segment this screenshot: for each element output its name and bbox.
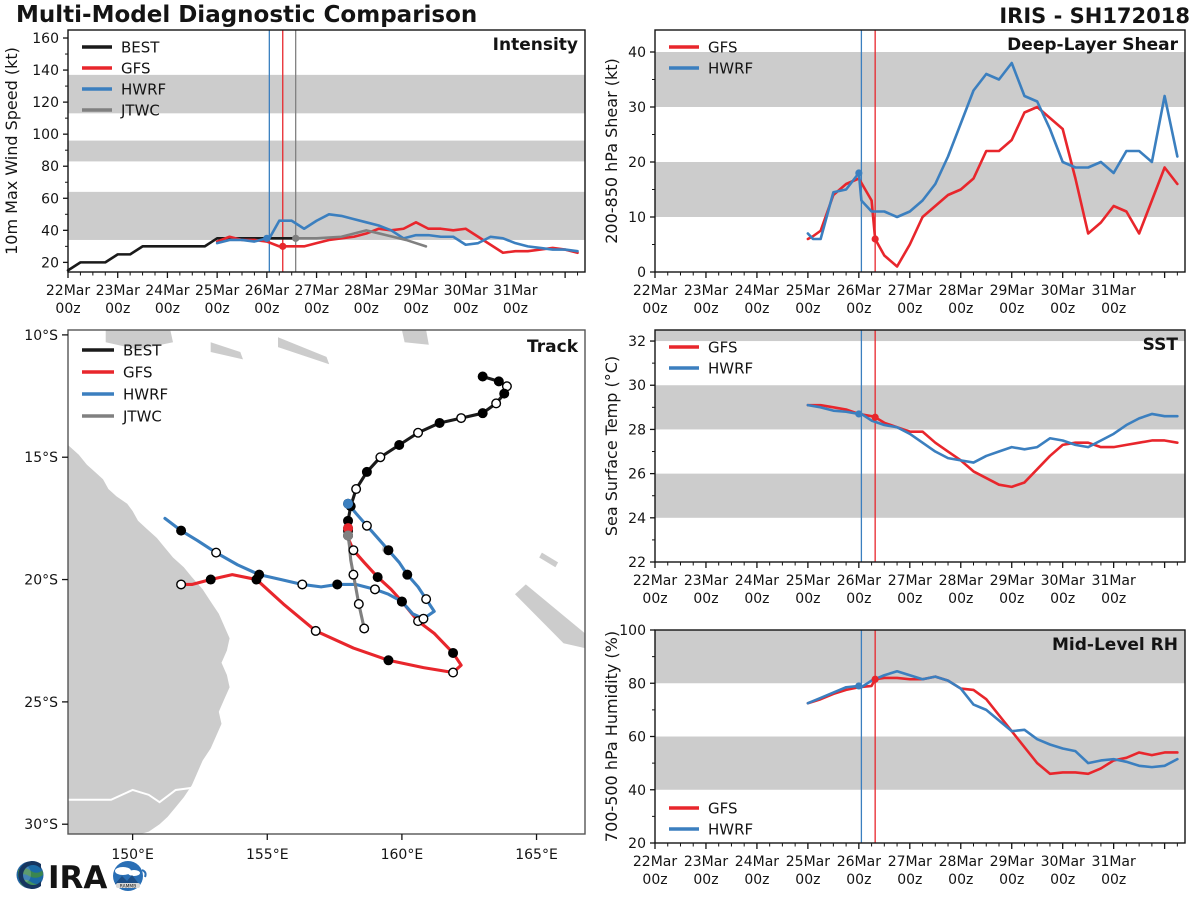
y-axis-label: 10m Max Wind Speed (kt) (2, 47, 21, 255)
track-point-hwrf (298, 580, 307, 589)
legend-label-best: BEST (121, 39, 160, 57)
x-tick-sublabel: 00z (846, 872, 871, 888)
x-tick-label: 25Mar (195, 283, 239, 299)
band (655, 162, 1185, 217)
legend-label-hwrf: HWRF (708, 821, 753, 839)
init-point-hwrf (855, 682, 862, 689)
panel-title: Mid-Level RH (1052, 635, 1178, 655)
map-y-tick-label: 30°S (24, 817, 58, 833)
x-tick-label: 23Mar (96, 283, 140, 299)
x-tick-sublabel: 00z (693, 872, 718, 888)
map-x-tick-label: 160°E (381, 847, 424, 863)
y-tick-label: 40 (628, 783, 646, 799)
x-tick-label: 29Mar (990, 283, 1034, 299)
track-point-hwrf (403, 570, 412, 579)
y-tick-label: 60 (41, 191, 59, 207)
track-point-hwrf (384, 546, 393, 555)
track-point-hwrf (177, 526, 186, 535)
y-tick-label: 80 (41, 159, 59, 175)
map-x-tick-label: 155°E (246, 847, 289, 863)
panel-title: SST (1143, 335, 1179, 355)
track-init-point-hwrf (343, 499, 353, 509)
x-tick-label: 27Mar (888, 854, 932, 870)
track-point-best (363, 468, 372, 477)
x-tick-label: 24Mar (735, 854, 779, 870)
y-tick-label: 120 (32, 95, 59, 111)
band (68, 141, 585, 162)
y-tick-label: 28 (628, 422, 646, 438)
track-point-best (435, 419, 444, 428)
track-point-jtwc (349, 570, 358, 579)
track-point-best (457, 414, 466, 423)
map-y-tick-label: 10°S (24, 328, 58, 344)
legend-label-gfs: GFS (708, 800, 738, 818)
x-tick-label: 28Mar (344, 283, 388, 299)
y-tick-label: 20 (628, 836, 646, 852)
y-tick-label: 100 (32, 127, 59, 143)
y-tick-label: 24 (628, 511, 646, 527)
x-tick-sublabel: 00z (1101, 872, 1126, 888)
x-tick-label: 28Mar (939, 573, 983, 589)
y-tick-label: 0 (637, 265, 646, 281)
legend-label-hwrf: HWRF (708, 60, 753, 78)
x-tick-label: 26Mar (837, 573, 881, 589)
x-tick-label: 25Mar (786, 854, 830, 870)
band (655, 737, 1185, 790)
y-tick-label: 32 (628, 334, 646, 350)
x-tick-label: 31Mar (493, 283, 537, 299)
legend-label-gfs: GFS (121, 60, 151, 78)
y-tick-label: 20 (41, 255, 59, 271)
x-tick-sublabel: 00z (354, 301, 379, 317)
y-axis-label: Sea Surface Temp (°C) (602, 356, 621, 536)
panel-title: Deep-Layer Shear (1007, 35, 1178, 55)
track-point-hwrf (333, 580, 342, 589)
track-point-best (352, 485, 361, 494)
track-point-hwrf (255, 570, 264, 579)
y-tick-label: 30 (628, 378, 646, 394)
sst-chart: 22242628303222Mar00z23Mar00z24Mar00z25Ma… (600, 312, 1200, 612)
track-point-gfs (384, 656, 393, 665)
track-init-point-jtwc (343, 531, 353, 541)
legend-label-gfs: GFS (708, 339, 738, 357)
x-tick-label: 31Mar (1092, 573, 1136, 589)
sst-panel: 22242628303222Mar00z23Mar00z24Mar00z25Ma… (600, 312, 1200, 612)
track-map: 10°S15°S20°S25°S30°S150°E155°E160°E165°E… (0, 318, 600, 863)
legend-label-hwrf: HWRF (708, 360, 753, 378)
x-tick-label: 23Mar (684, 854, 728, 870)
init-point-gfs (279, 243, 286, 250)
y-tick-label: 160 (32, 31, 59, 47)
track-point-jtwc (355, 600, 364, 609)
map-y-tick-label: 20°S (24, 573, 58, 589)
x-tick-label: 27Mar (888, 573, 932, 589)
track-point-best (376, 453, 385, 462)
x-tick-label: 25Mar (786, 283, 830, 299)
x-tick-label: 22Mar (46, 283, 90, 299)
x-tick-label: 26Mar (837, 283, 881, 299)
track-point-best (492, 399, 501, 408)
x-tick-label: 29Mar (990, 573, 1034, 589)
x-tick-sublabel: 00z (897, 872, 922, 888)
x-tick-sublabel: 00z (795, 872, 820, 888)
y-axis: 222426283032 (628, 334, 655, 571)
legend-label-best: BEST (123, 342, 162, 360)
x-tick-label: 30Mar (1041, 854, 1085, 870)
x-tick-label: 30Mar (444, 283, 488, 299)
x-tick-sublabel: 00z (254, 301, 279, 317)
track-point-gfs (449, 649, 458, 658)
rh-panel: 2040608010022Mar00z23Mar00z24Mar00z25Mar… (600, 595, 1200, 900)
track-point-best (395, 441, 404, 450)
y-axis-label: 700-500 hPa Humidity (%) (602, 631, 621, 842)
track-point-gfs (311, 627, 320, 636)
legend-label-jtwc: JTWC (120, 102, 160, 120)
x-tick-label: 24Mar (145, 283, 189, 299)
track-point-best (500, 389, 509, 398)
x-tick-label: 27Mar (888, 283, 932, 299)
x-tick-label: 22Mar (633, 854, 677, 870)
track-point-best (478, 372, 487, 381)
cira-logo: IRA RAMMB (8, 852, 178, 898)
y-tick-label: 30 (628, 100, 646, 116)
legend-label-gfs: GFS (123, 364, 153, 382)
panel-title: Intensity (493, 35, 578, 55)
x-tick-sublabel: 00z (205, 301, 230, 317)
x-tick-label: 31Mar (1092, 283, 1136, 299)
x-tick-label: 28Mar (939, 283, 983, 299)
y-axis: 20406080100120140160 (32, 31, 68, 271)
x-tick-sublabel: 00z (642, 872, 667, 888)
map-x-axis: 150°E155°E160°E165°E (111, 834, 557, 863)
legend-label-hwrf: HWRF (123, 386, 168, 404)
track-point-hwrf (419, 614, 428, 623)
x-tick-label: 23Mar (684, 573, 728, 589)
x-tick-label: 22Mar (633, 573, 677, 589)
x-tick-sublabel: 00z (744, 872, 769, 888)
x-tick-sublabel: 00z (304, 301, 329, 317)
y-axis-label: 200-850 hPa Shear (kt) (602, 58, 621, 244)
track-panel: 10°S15°S20°S25°S30°S150°E155°E160°E165°E… (0, 318, 600, 863)
init-point-hwrf (263, 235, 270, 242)
legend-label-hwrf: HWRF (121, 81, 166, 99)
y-tick-label: 26 (628, 467, 646, 483)
x-tick-label: 26Mar (245, 283, 289, 299)
svg-text:IRA: IRA (48, 860, 107, 896)
legend-label-jtwc: JTWC (122, 408, 162, 426)
x-tick-label: 29Mar (394, 283, 438, 299)
y-tick-label: 80 (628, 676, 646, 692)
track-point-hwrf (398, 597, 407, 606)
x-tick-sublabel: 00z (105, 301, 130, 317)
x-axis: 22Mar00z23Mar00z24Mar00z25Mar00z26Mar00z… (633, 843, 1177, 888)
track-point-jtwc (360, 624, 369, 633)
x-tick-label: 31Mar (1092, 854, 1136, 870)
track-point-hwrf (363, 521, 372, 530)
x-tick-sublabel: 00z (948, 872, 973, 888)
x-tick-label: 24Mar (735, 283, 779, 299)
intensity-chart: 2040608010012014016022Mar00z23Mar00z24Ma… (0, 0, 600, 320)
shear-panel: 01020304022Mar00z23Mar00z24Mar00z25Mar00… (600, 0, 1200, 320)
track-point-hwrf (422, 595, 431, 604)
map-x-tick-label: 165°E (515, 847, 558, 863)
track-point-hwrf (371, 585, 380, 594)
y-tick-label: 22 (628, 555, 646, 571)
band (655, 385, 1185, 429)
track-point-gfs (373, 573, 382, 582)
x-tick-label: 25Mar (786, 573, 830, 589)
init-point-hwrf (855, 169, 862, 176)
x-axis: 22Mar00z23Mar00z24Mar00z25Mar00z26Mar00z… (633, 272, 1177, 317)
x-tick-label: 30Mar (1041, 283, 1085, 299)
x-tick-label: 30Mar (1041, 573, 1085, 589)
x-tick-sublabel: 00z (503, 301, 528, 317)
y-tick-label: 20 (628, 155, 646, 171)
init-point-gfs (872, 414, 879, 421)
x-tick-sublabel: 00z (1050, 872, 1075, 888)
y-tick-label: 40 (628, 45, 646, 61)
track-point-gfs (206, 575, 215, 584)
shear-chart: 01020304022Mar00z23Mar00z24Mar00z25Mar00… (600, 0, 1200, 320)
track-point-hwrf (212, 548, 221, 557)
track-point-gfs (449, 668, 458, 677)
x-tick-label: 27Mar (294, 283, 338, 299)
x-tick-label: 22Mar (633, 283, 677, 299)
legend-label-gfs: GFS (708, 39, 738, 57)
y-tick-label: 10 (628, 210, 646, 226)
track-point-best (478, 409, 487, 418)
y-axis: 010203040 (628, 45, 655, 281)
init-point-jtwc (292, 235, 299, 242)
map-y-tick-label: 15°S (24, 450, 58, 466)
map-y-axis: 10°S15°S20°S25°S30°S (24, 328, 68, 833)
intensity-panel: 2040608010012014016022Mar00z23Mar00z24Ma… (0, 0, 600, 320)
track-point-best (414, 428, 423, 437)
init-point-hwrf (855, 410, 862, 417)
x-tick-label: 23Mar (684, 283, 728, 299)
x-axis: 22Mar00z23Mar00z24Mar00z25Mar00z26Mar00z… (46, 272, 578, 317)
x-tick-label: 26Mar (837, 854, 881, 870)
map-y-tick-label: 25°S (24, 695, 58, 711)
track-point-best (495, 377, 504, 386)
x-tick-label: 29Mar (990, 854, 1034, 870)
track-point-gfs (177, 580, 186, 589)
x-tick-label: 28Mar (939, 854, 983, 870)
logo-subtext: RAMMB (120, 883, 136, 889)
y-tick-label: 40 (41, 223, 59, 239)
y-tick-label: 60 (628, 730, 646, 746)
x-tick-sublabel: 00z (155, 301, 180, 317)
x-tick-sublabel: 00z (999, 872, 1024, 888)
y-axis: 20406080100 (619, 623, 655, 852)
rh-chart: 2040608010022Mar00z23Mar00z24Mar00z25Mar… (600, 595, 1200, 900)
band (655, 474, 1185, 518)
x-tick-sublabel: 00z (55, 301, 80, 317)
x-tick-sublabel: 00z (453, 301, 478, 317)
track-point-gfs (349, 546, 358, 555)
x-tick-label: 24Mar (735, 573, 779, 589)
panel-title: Track (527, 337, 579, 357)
init-point-gfs (872, 235, 879, 242)
y-tick-label: 140 (32, 63, 59, 79)
x-tick-sublabel: 00z (403, 301, 428, 317)
y-tick-label: 100 (619, 623, 646, 639)
init-point-gfs (872, 676, 879, 683)
